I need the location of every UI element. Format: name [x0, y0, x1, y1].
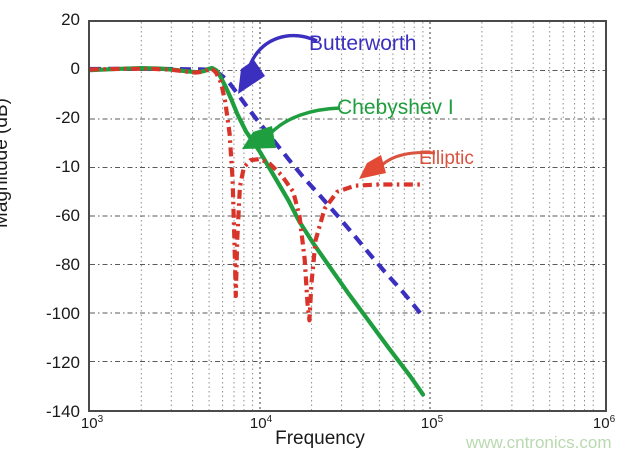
- watermark: www.cntronics.com: [466, 433, 611, 453]
- annotation-elliptic: Elliptic: [419, 148, 474, 170]
- annotation-butterworth: Butterworth: [309, 32, 416, 56]
- y-tick-label: -80: [10, 255, 80, 275]
- y-tick-label: -20: [10, 108, 80, 128]
- y-tick-label: 20: [10, 10, 80, 30]
- y-axis-title: Magnitude (dB): [0, 43, 13, 283]
- plot-canvas: [90, 22, 605, 410]
- y-tick-label: 0: [10, 59, 80, 79]
- y-axis-tick-labels: 20 0 -20 -10 -60 -80 -100 -120 -140: [8, 0, 80, 459]
- chart-svg: [90, 22, 605, 410]
- y-tick-label: -120: [10, 353, 80, 373]
- y-tick-label: -10: [10, 157, 80, 177]
- chart-screenshot: 20 0 -20 -10 -60 -80 -100 -120 -140 Magn…: [0, 0, 640, 459]
- y-tick-label: -60: [10, 206, 80, 226]
- arrow-chebyshev: [242, 108, 340, 149]
- annotation-chebyshev: Chebyshev I: [337, 96, 454, 120]
- arrow-butterworth: [238, 36, 317, 94]
- y-tick-label: -140: [10, 402, 80, 422]
- y-tick-label: -100: [10, 304, 80, 324]
- plot-area: [88, 20, 607, 412]
